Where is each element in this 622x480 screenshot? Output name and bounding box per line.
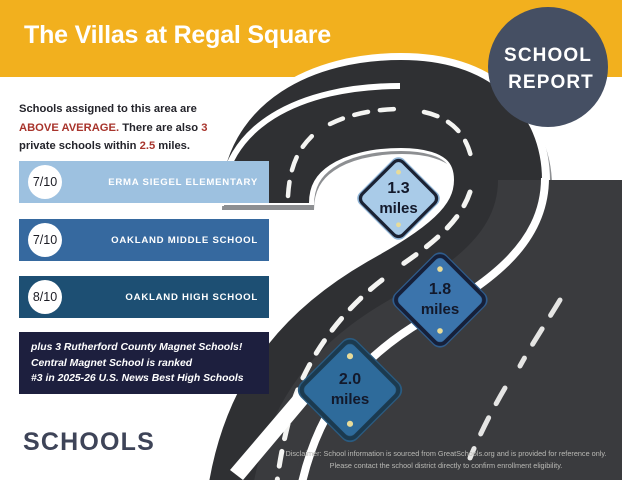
intro-above-average: ABOVE AVERAGE. [19,122,119,134]
magnet-note-line-1: plus 3 Rutherford County Magnet Schools! [31,340,259,356]
intro-line-3-suffix: miles. [155,140,190,152]
school-row-elementary[interactable]: 7/10 ERMA SIEGEL ELEMENTARY [19,161,269,203]
intro-line-3-text: private schools within [19,140,140,152]
magnet-schools-note: plus 3 Rutherford County Magnet Schools!… [19,332,269,394]
school-score-badge: 8/10 [28,280,62,314]
intro-line-1: Schools assigned to this area are [19,103,197,115]
disclaimer-line-1: Disclaimer: School information is source… [285,449,556,458]
school-score-badge: 7/10 [28,165,62,199]
distance-sign-2-0-miles: 2.0 miles [293,333,407,447]
school-score-badge: 7/10 [28,223,62,257]
school-report-infographic: The Villas at Regal Square SCHOOL REPORT… [0,0,622,480]
badge-label-school: SCHOOL [504,42,592,69]
distance-sign-1-3-miles: 1.3 miles [352,152,445,245]
intro-radius-miles: 2.5 [140,140,156,152]
badge-label-report: REPORT [502,69,594,96]
disclaimer-text: Disclaimer: School information is source… [281,448,611,471]
school-row-middle[interactable]: 7/10 OAKLAND MIDDLE SCHOOL [19,219,269,261]
intro-private-count: 3 [201,122,207,134]
intro-line-2-text: There are also [119,122,201,134]
magnet-note-line-2: Central Magnet School is ranked [31,356,259,372]
diamond-sign-icon [293,333,407,447]
school-row-high[interactable]: 8/10 OAKLAND HIGH SCHOOL [19,276,269,318]
magnet-note-line-3: #3 in 2025-26 U.S. News Best High School… [31,371,259,387]
intro-paragraph: Schools assigned to this area are ABOVE … [19,100,269,156]
school-report-badge: SCHOOL REPORT [488,7,608,127]
schools-logo: SCHOOLS [23,428,155,457]
diamond-sign-icon [352,152,445,245]
